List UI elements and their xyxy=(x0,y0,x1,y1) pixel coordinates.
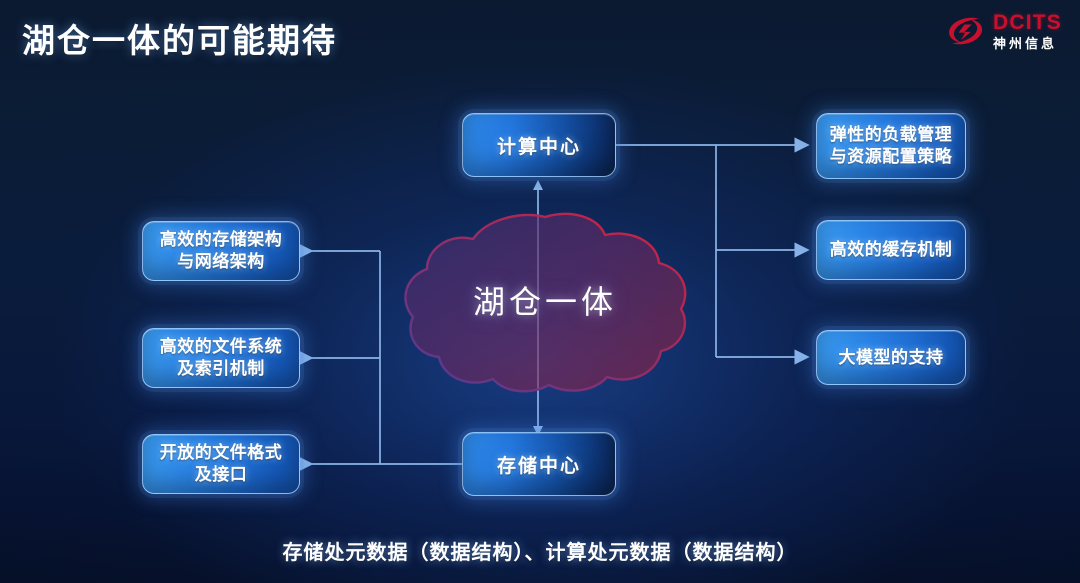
node-right-large-model-support[interactable]: 大模型的支持 xyxy=(816,330,966,385)
node-left-file-system[interactable]: 高效的文件系统及索引机制 xyxy=(142,328,300,388)
node-compute-center[interactable]: 计算中心 xyxy=(462,113,616,177)
node-right-cache-mechanism[interactable]: 高效的缓存机制 xyxy=(816,220,966,280)
slide-canvas: 湖仓一体的可能期待 DCITS 神州信息 xyxy=(0,0,1080,583)
node-right-elastic-workload[interactable]: 弹性的负载管理与资源配置策略 xyxy=(816,113,966,179)
cloud-shape xyxy=(395,205,695,395)
node-left-storage-architecture[interactable]: 高效的存储架构与网络架构 xyxy=(142,221,300,281)
node-storage-center[interactable]: 存储中心 xyxy=(462,432,616,496)
node-left-open-file-format[interactable]: 开放的文件格式及接口 xyxy=(142,434,300,494)
footer-caption: 存储处元数据（数据结构）、计算处元数据（数据结构） xyxy=(0,536,1080,565)
